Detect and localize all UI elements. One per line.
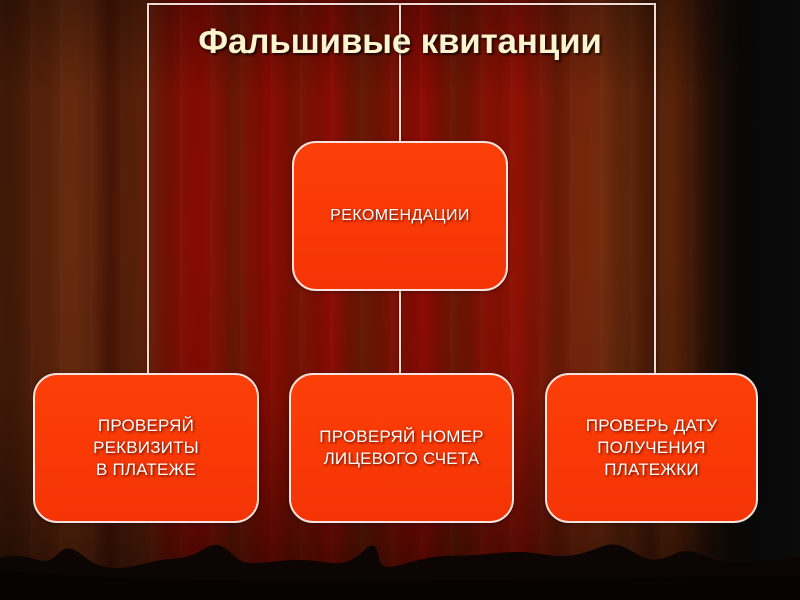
node-check-date-line-1: ПРОВЕРЬ ДАТУ — [586, 416, 717, 435]
node-check-date-label: ПРОВЕРЬ ДАТУ ПОЛУЧЕНИЯ ПЛАТЕЖКИ — [578, 415, 725, 480]
node-check-requisites: ПРОВЕРЯЙ РЕКВИЗИТЫ В ПЛАТЕЖЕ — [33, 373, 259, 523]
bottom-drape — [0, 530, 800, 600]
connector-vertical-middle-lower — [399, 289, 401, 375]
node-check-account-number-label: ПРОВЕРЯЙ НОМЕР ЛИЦЕВОГО СЧЕТА — [311, 426, 491, 470]
slide-title: Фальшивые квитанции — [0, 22, 800, 62]
presentation-slide: Фальшивые квитанции РЕКОМЕНДАЦИИ ПРОВЕРЯ… — [0, 0, 800, 600]
connector-horizontal-top — [148, 3, 656, 5]
node-check-date-line-2: ПОЛУЧЕНИЯ — [597, 438, 705, 457]
node-recommendations: РЕКОМЕНДАЦИИ — [292, 141, 508, 291]
node-check-account-number-line-1: ПРОВЕРЯЙ НОМЕР — [319, 427, 483, 446]
node-check-date-line-3: ПЛАТЕЖКИ — [604, 460, 699, 479]
node-check-requisites-line-3: В ПЛАТЕЖЕ — [96, 460, 196, 479]
node-check-account-number: ПРОВЕРЯЙ НОМЕР ЛИЦЕВОГО СЧЕТА — [289, 373, 514, 523]
node-check-account-number-line-2: ЛИЦЕВОГО СЧЕТА — [324, 449, 480, 468]
node-check-requisites-label: ПРОВЕРЯЙ РЕКВИЗИТЫ В ПЛАТЕЖЕ — [85, 415, 207, 480]
node-recommendations-label: РЕКОМЕНДАЦИИ — [322, 206, 478, 226]
node-check-date: ПРОВЕРЬ ДАТУ ПОЛУЧЕНИЯ ПЛАТЕЖКИ — [545, 373, 758, 523]
node-check-requisites-line-2: РЕКВИЗИТЫ — [93, 438, 199, 457]
node-check-requisites-line-1: ПРОВЕРЯЙ — [98, 416, 194, 435]
